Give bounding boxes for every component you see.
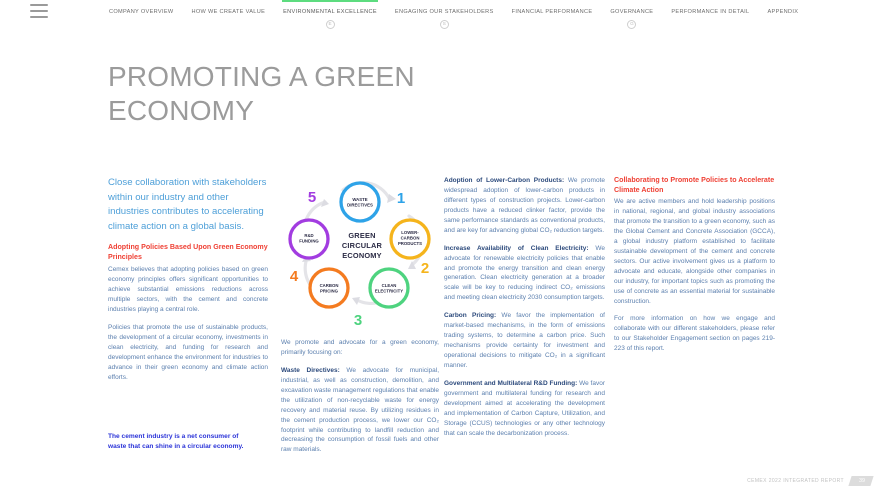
- hamburger-line: [30, 4, 48, 6]
- diagram-number-4: 4: [290, 268, 299, 285]
- heading-clean-electricity: Increase Availability of Clean Electrici…: [444, 245, 589, 252]
- body-carbon-pricing: We favor the implementation of market-ba…: [444, 312, 605, 369]
- diagram-node-label-2b: CARBON: [401, 236, 420, 241]
- nav-item-financial-performance[interactable]: FINANCIAL PERFORMANCE: [503, 0, 602, 30]
- report-page: COMPANY OVERVIEW HOW WE CREATE VALUE ENV…: [0, 0, 880, 495]
- lead-paragraph: Close collaboration with stakeholders wi…: [108, 176, 268, 234]
- heading-lower-carbon-products: Adoption of Lower-Carbon Products:: [444, 177, 564, 184]
- diagram-svg: WASTE DIRECTIVES LOWER- CARBON PRODUCTS …: [281, 176, 439, 331]
- nav-item-label: GOVERNANCE: [610, 10, 653, 16]
- block-clean-electricity: Increase Availability of Clean Electrici…: [444, 244, 605, 304]
- paragraph-waste-directives: Waste Directives: We advocate for munici…: [281, 366, 439, 455]
- heading-carbon-pricing: Carbon Pricing:: [444, 312, 496, 319]
- nav-item-label: APPENDIX: [767, 10, 798, 16]
- esg-badge-e: E: [326, 20, 335, 29]
- heading-waste-directives: Waste Directives:: [281, 367, 340, 374]
- heading-collaborating-policies: Collaborating to Promote Policies to Acc…: [614, 176, 775, 195]
- column-two: We promote and advocate for a green econ…: [281, 338, 439, 463]
- diagram-node-label-3b: ELECTRICITY: [375, 289, 403, 294]
- nav-item-label: ENGAGING OUR STAKEHOLDERS: [395, 10, 494, 16]
- hamburger-menu-icon[interactable]: [30, 4, 48, 18]
- nav-item-engaging-our-stakeholders[interactable]: ENGAGING OUR STAKEHOLDERS S: [386, 0, 503, 30]
- diagram-node-label-2c: PRODUCTS: [398, 241, 422, 246]
- paragraph-collaborating-1: We are active members and hold leadershi…: [614, 197, 775, 306]
- block-rd-funding: Government and Multilateral R&D Funding:…: [444, 379, 605, 439]
- footer-report-name: CEMEX 2022 INTEGRATED REPORT: [747, 478, 844, 484]
- top-navigation-bar: COMPANY OVERVIEW HOW WE CREATE VALUE ENV…: [0, 0, 880, 30]
- page-title: PROMOTING A GREEN ECONOMY: [108, 60, 448, 128]
- diagram-node-label-4: CARBON: [320, 283, 339, 288]
- nav-item-label: HOW WE CREATE VALUE: [192, 10, 266, 16]
- body-rd-funding: We favor government and multilateral fun…: [444, 380, 605, 437]
- column-one: Close collaboration with stakeholders wi…: [108, 176, 268, 391]
- esg-badge-s: S: [440, 20, 449, 29]
- section-heading-adopting-policies: Adopting Policies Based Upon Green Econo…: [108, 243, 268, 262]
- page-footer: CEMEX 2022 INTEGRATED REPORT 39: [747, 476, 872, 486]
- pull-quote: The cement industry is a net consumer of…: [108, 432, 258, 452]
- nav-item-label: ENVIRONMENTAL EXCELLENCE: [283, 10, 377, 16]
- hamburger-line: [30, 16, 48, 18]
- block-carbon-pricing: Carbon Pricing: We favor the implementat…: [444, 311, 605, 371]
- block-lower-carbon-products: Adoption of Lower-Carbon Products: We pr…: [444, 176, 605, 236]
- diagram-node-label-5b: FUNDING: [299, 239, 319, 244]
- nav-item-how-we-create-value[interactable]: HOW WE CREATE VALUE: [183, 0, 275, 30]
- paragraph-sustainable-policies: Policies that promote the use of sustain…: [108, 323, 268, 383]
- diagram-node-label-2: LOWER-: [401, 230, 419, 235]
- paragraph-intro-focus: We promote and advocate for a green econ…: [281, 338, 439, 358]
- diagram-node-label-5: R&D: [304, 233, 313, 238]
- nav-item-list: COMPANY OVERVIEW HOW WE CREATE VALUE ENV…: [100, 0, 875, 30]
- nav-item-label: COMPANY OVERVIEW: [109, 10, 174, 16]
- paragraph-adopting-policies: Cemex believes that adopting policies ba…: [108, 265, 268, 315]
- column-four: Collaborating to Promote Policies to Acc…: [614, 176, 775, 362]
- body-clean-electricity: We advocate for renewable electricity po…: [444, 245, 605, 302]
- active-tab-indicator: [282, 0, 378, 2]
- nav-item-label: FINANCIAL PERFORMANCE: [512, 10, 593, 16]
- diagram-node-label-4b: PRICING: [320, 289, 339, 294]
- hamburger-line: [30, 10, 48, 12]
- footer-page-number-text: 39: [859, 478, 865, 484]
- diagram-number-3: 3: [354, 312, 362, 329]
- nav-item-company-overview[interactable]: COMPANY OVERVIEW: [100, 0, 183, 30]
- column-three: Adoption of Lower-Carbon Products: We pr…: [444, 176, 605, 447]
- body-lower-carbon-products: We promote widespread adoption of lower-…: [444, 177, 605, 234]
- esg-badge-g: G: [627, 20, 636, 29]
- paragraph-collaborating-2: For more information on how we engage an…: [614, 314, 775, 354]
- body-waste-directives: We advocate for municipal, industrial, a…: [281, 367, 439, 454]
- diagram-number-1: 1: [397, 190, 405, 207]
- diagram-number-5: 5: [308, 189, 316, 206]
- nav-item-label: PERFORMANCE IN DETAIL: [671, 10, 749, 16]
- nav-item-performance-in-detail[interactable]: PERFORMANCE IN DETAIL: [662, 0, 758, 30]
- nav-item-governance[interactable]: GOVERNANCE G: [601, 0, 662, 30]
- diagram-node-label-1b: DIRECTIVES: [347, 203, 373, 208]
- heading-rd-funding: Government and Multilateral R&D Funding:: [444, 380, 577, 387]
- diagram-node-label-1: WASTE: [352, 197, 367, 202]
- nav-item-environmental-excellence[interactable]: ENVIRONMENTAL EXCELLENCE E: [274, 0, 386, 30]
- diagram-number-2: 2: [421, 260, 429, 277]
- footer-page-number: 39: [848, 476, 873, 486]
- diagram-node-label-3: CLEAN: [382, 283, 397, 288]
- green-circular-economy-diagram: WASTE DIRECTIVES LOWER- CARBON PRODUCTS …: [281, 176, 439, 331]
- nav-item-appendix[interactable]: APPENDIX: [758, 0, 807, 30]
